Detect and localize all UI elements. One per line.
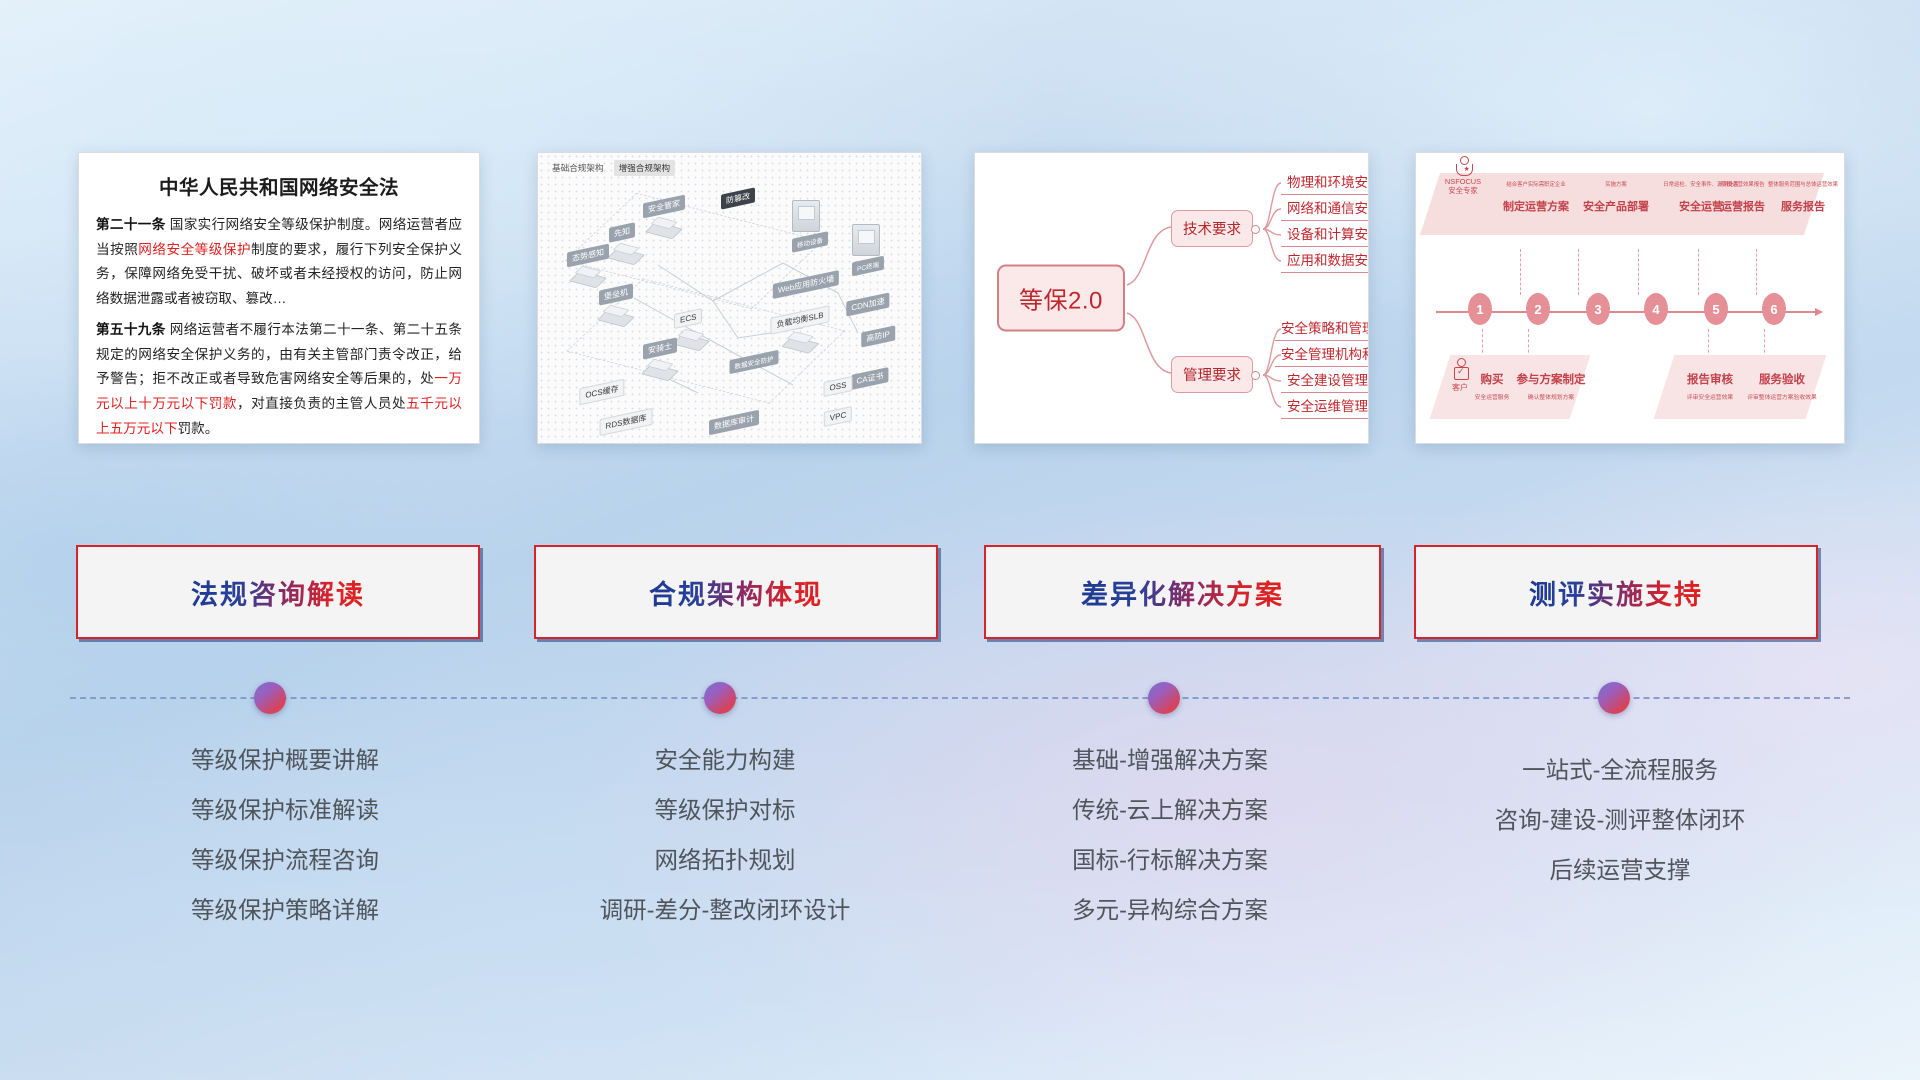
section-title-box-3[interactable]: 差异化解决方案: [984, 545, 1381, 639]
iso-node-label: 移动设备: [792, 231, 828, 253]
iso-node-label: ECS: [674, 308, 702, 329]
timeline-marker-number: 3: [1594, 302, 1601, 317]
customer-item-title: 服务验收: [1746, 371, 1818, 387]
timeline-step-name: 服务报告: [1748, 198, 1845, 214]
detail-item: 国标-行标解决方案: [940, 835, 1400, 885]
mindmap-leaf-mgmt-2: 安全管理机构和人员: [1275, 343, 1369, 367]
iso-node-label: 态势感知: [567, 244, 609, 268]
law-article-59-text-b: ，对直接负责的主管人员处: [237, 396, 406, 411]
timeline-marker-2[interactable]: 2: [1526, 293, 1550, 325]
preview-card-row: 中华人民共和国网络安全法 第二十一条 国家实行网络安全等级保护制度。网络运营者应…: [0, 0, 1920, 450]
timeline-customer-item-2: 参与方案制定 确认整体规划方案: [1512, 371, 1590, 401]
iso-node-mobile: 移动设备: [792, 200, 828, 250]
mindmap-leaf-mgmt-1: 安全策略和管理制度: [1275, 317, 1369, 341]
detail-item: 基础-增强解决方案: [940, 735, 1400, 785]
iso-node-ocs: OCS缓存: [579, 382, 624, 401]
detail-item: 多元-异构综合方案: [940, 885, 1400, 935]
section-title-text-3: 差异化解决方案: [1081, 573, 1284, 612]
detail-item: 传统-云上解决方案: [940, 785, 1400, 835]
mindmap-leaf-mgmt-4: 安全运维管理: [1281, 395, 1369, 419]
detail-item: 等级保护对标: [500, 785, 950, 835]
detail-item: 后续运营支撑: [1390, 845, 1850, 895]
law-article-21-highlight: 网络安全等级保护: [138, 242, 251, 257]
detail-column-1: 等级保护概要讲解 等级保护标准解读 等级保护流程咨询 等级保护策略详解: [60, 735, 510, 935]
detail-item: 调研-差分-整改闭环设计: [500, 885, 950, 935]
timeline-marker-number: 2: [1534, 302, 1541, 317]
iso-node-gaofangip: 高防IP: [861, 326, 895, 344]
timeline-dash-5: [1756, 249, 1757, 295]
customer-item-desc: 评审整体运营方案验收效果: [1746, 392, 1818, 401]
iso-node-label: 安全管家: [643, 195, 685, 219]
section-title-text-1: 法规咨询解读: [191, 573, 365, 612]
customer-item-title: 参与方案制定: [1512, 371, 1590, 387]
law-article-59-label: 第五十九条: [96, 322, 166, 337]
timeline-step-name: 制定运营方案: [1494, 198, 1578, 214]
customer-item-desc: 安全运营服务: [1468, 392, 1516, 401]
timeline-expert-label: ★ NSFOCUS 安全专家: [1434, 156, 1492, 196]
customer-item-desc: 确认整体规划方案: [1512, 392, 1590, 401]
detail-item: 一站式-全流程服务: [1390, 745, 1850, 795]
timeline-dash-1: [1520, 249, 1521, 295]
architecture-canvas: 防篡改 安全管家 先知 态势感知 堡垒机: [538, 153, 921, 443]
iso-node-label: VPC: [824, 406, 852, 427]
expert-brand: NSFOCUS: [1434, 177, 1492, 186]
detail-column-2: 安全能力构建 等级保护对标 网络拓扑规划 调研-差分-整改闭环设计: [500, 735, 950, 935]
iso-node-taishiganzhi: 态势感知: [567, 245, 609, 287]
detail-item: 等级保护概要讲解: [60, 735, 510, 785]
detail-item: 等级保护流程咨询: [60, 835, 510, 885]
iso-node-label: 堡垒机: [599, 283, 633, 305]
iso-cube: [643, 358, 677, 380]
section-title-box-4[interactable]: 测评实施支持: [1414, 545, 1818, 639]
customer-icon: [1453, 358, 1468, 380]
iso-node-pc: PC终端: [852, 224, 884, 274]
mindmap-diagram: 等保2.0 技术要求: [975, 153, 1368, 443]
iso-node-baolei: 堡垒机: [599, 284, 633, 326]
iso-node-oss: OSS: [824, 376, 853, 394]
iso-cube: [647, 216, 681, 238]
section-title-text-4: 测评实施支持: [1529, 573, 1703, 612]
timeline-marker-6[interactable]: 6: [1762, 293, 1786, 325]
law-article-21: 第二十一条 国家实行网络安全等级保护制度。网络运营者应当按照网络安全等级保护制度…: [96, 213, 462, 312]
service-timeline: ★ NSFOCUS 安全专家 结合客户实际需职定企业 制定运营方案 实施方案 安…: [1416, 153, 1844, 443]
iso-node-anquanguanjia: 安全管家: [643, 196, 685, 238]
iso-node-vpc: VPC: [824, 406, 852, 424]
rail-knob-3[interactable]: [1148, 682, 1180, 714]
section-title-box-1[interactable]: 法规咨询解读: [76, 545, 480, 639]
detail-item: 网络拓扑规划: [500, 835, 950, 885]
iso-node-ecs: ECS: [674, 308, 708, 350]
iso-node-label: 先知: [609, 222, 635, 243]
law-article-59: 第五十九条 网络运营者不履行本法第二十一条、第二十五条规定的网络安全保护义务的，…: [96, 318, 462, 442]
iso-node-dbaudit: 数据库审计: [709, 412, 759, 430]
preview-card-law[interactable]: 中华人民共和国网络安全法 第二十一条 国家实行网络安全等级保护制度。网络运营者应…: [78, 152, 480, 444]
iso-node-slb: 负载均衡SLB: [770, 310, 829, 353]
timeline-dash-3: [1638, 249, 1639, 295]
law-article-59-text-c: 罚款。: [178, 421, 219, 436]
timeline-rail: [70, 697, 1850, 699]
iso-node-ca: CA证书: [851, 368, 888, 386]
detail-item: 等级保护标准解读: [60, 785, 510, 835]
law-document: 中华人民共和国网络安全法 第二十一条 国家实行网络安全等级保护制度。网络运营者应…: [79, 153, 479, 443]
timeline-customer-item-4: 服务验收 评审整体运营方案验收效果: [1746, 371, 1818, 401]
iso-cube: [609, 242, 643, 264]
preview-card-architecture[interactable]: 基础合规架构 增强合规架构: [537, 152, 922, 444]
iso-cube: [599, 304, 633, 326]
preview-card-timeline[interactable]: ★ NSFOCUS 安全专家 结合客户实际需职定企业 制定运营方案 实施方案 安…: [1415, 152, 1845, 444]
iso-node-rds: RDS数据库: [600, 412, 653, 431]
timeline-marker-number: 4: [1652, 302, 1659, 317]
rail-knob-1[interactable]: [254, 682, 286, 714]
section-title-text-2: 合规架构体现: [649, 573, 823, 612]
section-title-box-2[interactable]: 合规架构体现: [534, 545, 938, 639]
timeline-axis: [1436, 311, 1816, 313]
device-glyph: [792, 200, 820, 232]
expert-role: 安全专家: [1434, 186, 1492, 195]
timeline-step-sub: 整体服务范围与总体运营效果: [1748, 183, 1845, 189]
iso-cube: [783, 331, 817, 353]
timeline-marker-number: 5: [1712, 302, 1719, 317]
timeline-dash-2: [1578, 249, 1579, 295]
detail-column-4: 一站式-全流程服务 咨询-建设-测评整体闭环 后续运营支撑: [1390, 745, 1850, 895]
timeline-marker-4[interactable]: 4: [1644, 293, 1668, 325]
iso-node-label: 安骑士: [643, 337, 677, 359]
rail-knob-4[interactable]: [1598, 682, 1630, 714]
iso-node-xianzhi: 先知: [609, 222, 643, 264]
iso-node-label: PC终端: [852, 256, 884, 277]
expert-person-icon: ★: [1456, 156, 1471, 176]
iso-node-label: OSS: [824, 376, 853, 397]
iso-node-anqishi: 安骑士: [643, 338, 677, 380]
mindmap-leaf-mgmt-3: 安全建设管理: [1281, 369, 1369, 393]
timeline-dash-4: [1698, 249, 1699, 295]
timeline-step-sub: 结合客户实际需职定企业: [1494, 183, 1578, 189]
detail-item: 咨询-建设-测评整体闭环: [1390, 795, 1850, 845]
timeline-marker-5[interactable]: 5: [1704, 293, 1728, 325]
architecture-diagram: 基础合规架构 增强合规架构: [538, 153, 921, 443]
iso-node-waf: Web应用防火墙: [773, 274, 839, 292]
detail-column-3: 基础-增强解决方案 传统-云上解决方案 国标-行标解决方案 多元-异构综合方案: [940, 735, 1400, 935]
device-glyph: [852, 224, 880, 256]
preview-card-mindmap[interactable]: 等保2.0 技术要求: [974, 152, 1369, 444]
timeline-marker-1[interactable]: 1: [1468, 293, 1492, 325]
timeline-step-5: 整体服务范围与总体运营效果 服务报告: [1748, 183, 1845, 214]
timeline-marker-number: 6: [1770, 302, 1777, 317]
timeline-marker-number: 1: [1476, 302, 1483, 317]
timeline-step-1: 结合客户实际需职定企业 制定运营方案: [1494, 183, 1578, 214]
customer-item-title: 报告审核: [1678, 371, 1742, 387]
timeline-marker-3[interactable]: 3: [1586, 293, 1610, 325]
law-title: 中华人民共和国网络安全法: [96, 171, 462, 200]
customer-item-title: 购买: [1468, 371, 1516, 387]
rail-knob-2[interactable]: [704, 682, 736, 714]
iso-node-datasec: 数据安全防护: [730, 352, 779, 370]
timeline-customer-item-1: 购买 安全运营服务: [1468, 371, 1516, 401]
timeline-customer-item-3: 报告审核 评审安全运营效果: [1678, 371, 1742, 401]
customer-item-desc: 评审安全运营效果: [1678, 392, 1742, 401]
slide-stage: 中华人民共和国网络安全法 第二十一条 国家实行网络安全等级保护制度。网络运营者应…: [0, 0, 1920, 1080]
detail-item: 安全能力构建: [500, 735, 950, 785]
iso-node-fangcuangai: 防篡改: [721, 188, 755, 206]
detail-item: 等级保护策略详解: [60, 885, 510, 935]
law-article-21-label: 第二十一条: [96, 217, 166, 232]
iso-cube: [674, 328, 708, 350]
iso-node-cdn: CDN加速: [846, 294, 889, 312]
